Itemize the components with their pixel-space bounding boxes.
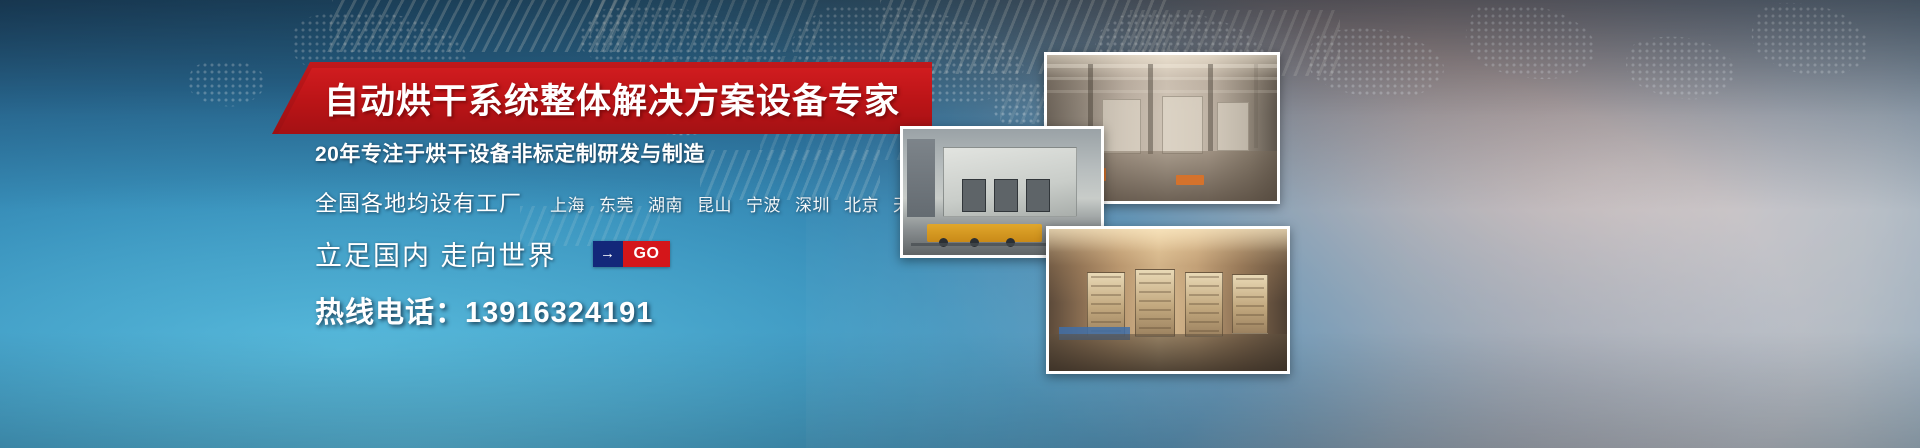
photo-c-image (1049, 229, 1287, 371)
city-item: 深圳 (795, 191, 830, 216)
factories-title: 全国各地均设有工厂 (315, 186, 522, 218)
slogan-text: 立足国内 走向世界 (315, 234, 557, 273)
city-item: 湖南 (648, 191, 683, 216)
city-list: 上海 东莞 湖南 昆山 宁波 深圳 北京 天津 (550, 191, 928, 216)
factories-row: 全国各地均设有工厂 上海 东莞 湖南 昆山 宁波 深圳 北京 天津 (315, 186, 955, 218)
go-button[interactable]: → GO (593, 241, 671, 267)
slogan-row: 立足国内 走向世界 → GO (315, 234, 955, 273)
go-button-label: GO (623, 241, 671, 267)
photo-drying-racks-production-line (1046, 226, 1290, 374)
headline-ribbon: 自动烘干系统整体解决方案设备专家 (272, 62, 932, 134)
city-item: 北京 (844, 191, 879, 216)
hotline-text: 热线电话：13916324191 (315, 289, 955, 331)
subtitle-text: 20年专注于烘干设备非标定制研发与制造 (315, 138, 955, 168)
headline-text: 自动烘干系统整体解决方案设备专家 (324, 62, 922, 134)
arrow-right-icon: → (593, 241, 623, 267)
city-item: 昆山 (697, 191, 732, 216)
hero-banner: 自动烘干系统整体解决方案设备专家 20年专注于烘干设备非标定制研发与制造 全国各… (0, 0, 1920, 448)
city-item: 宁波 (746, 191, 781, 216)
city-item: 上海 (550, 191, 585, 216)
city-item: 东莞 (599, 191, 634, 216)
copy-block: 20年专注于烘干设备非标定制研发与制造 全国各地均设有工厂 上海 东莞 湖南 昆… (315, 138, 955, 331)
